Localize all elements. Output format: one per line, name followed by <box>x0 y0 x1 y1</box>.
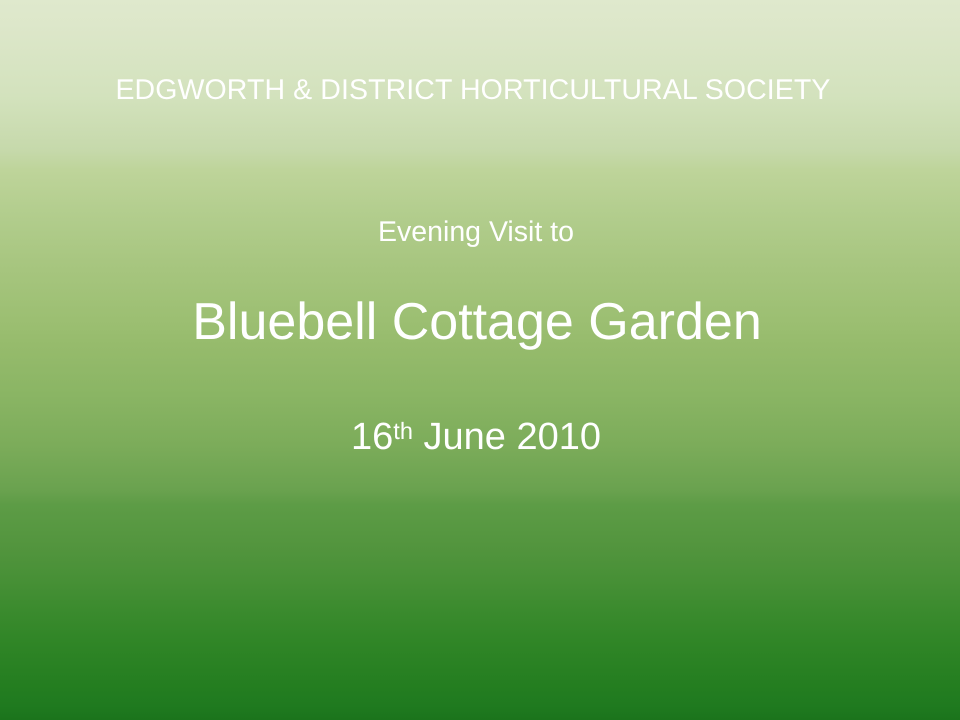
visit-date-month-year: June 2010 <box>413 416 601 458</box>
presentation-slide: EDGWORTH & DISTRICT HORTICULTURAL SOCIET… <box>0 0 960 720</box>
visit-subtitle: Evening Visit to <box>0 218 960 247</box>
visit-date: 16th June 2010 <box>0 418 960 456</box>
visit-date-day: 16 <box>351 416 393 458</box>
page-title: Bluebell Cottage Garden <box>0 296 960 348</box>
visit-date-ordinal-suffix: th <box>393 418 413 444</box>
society-header: EDGWORTH & DISTRICT HORTICULTURAL SOCIET… <box>0 76 960 105</box>
